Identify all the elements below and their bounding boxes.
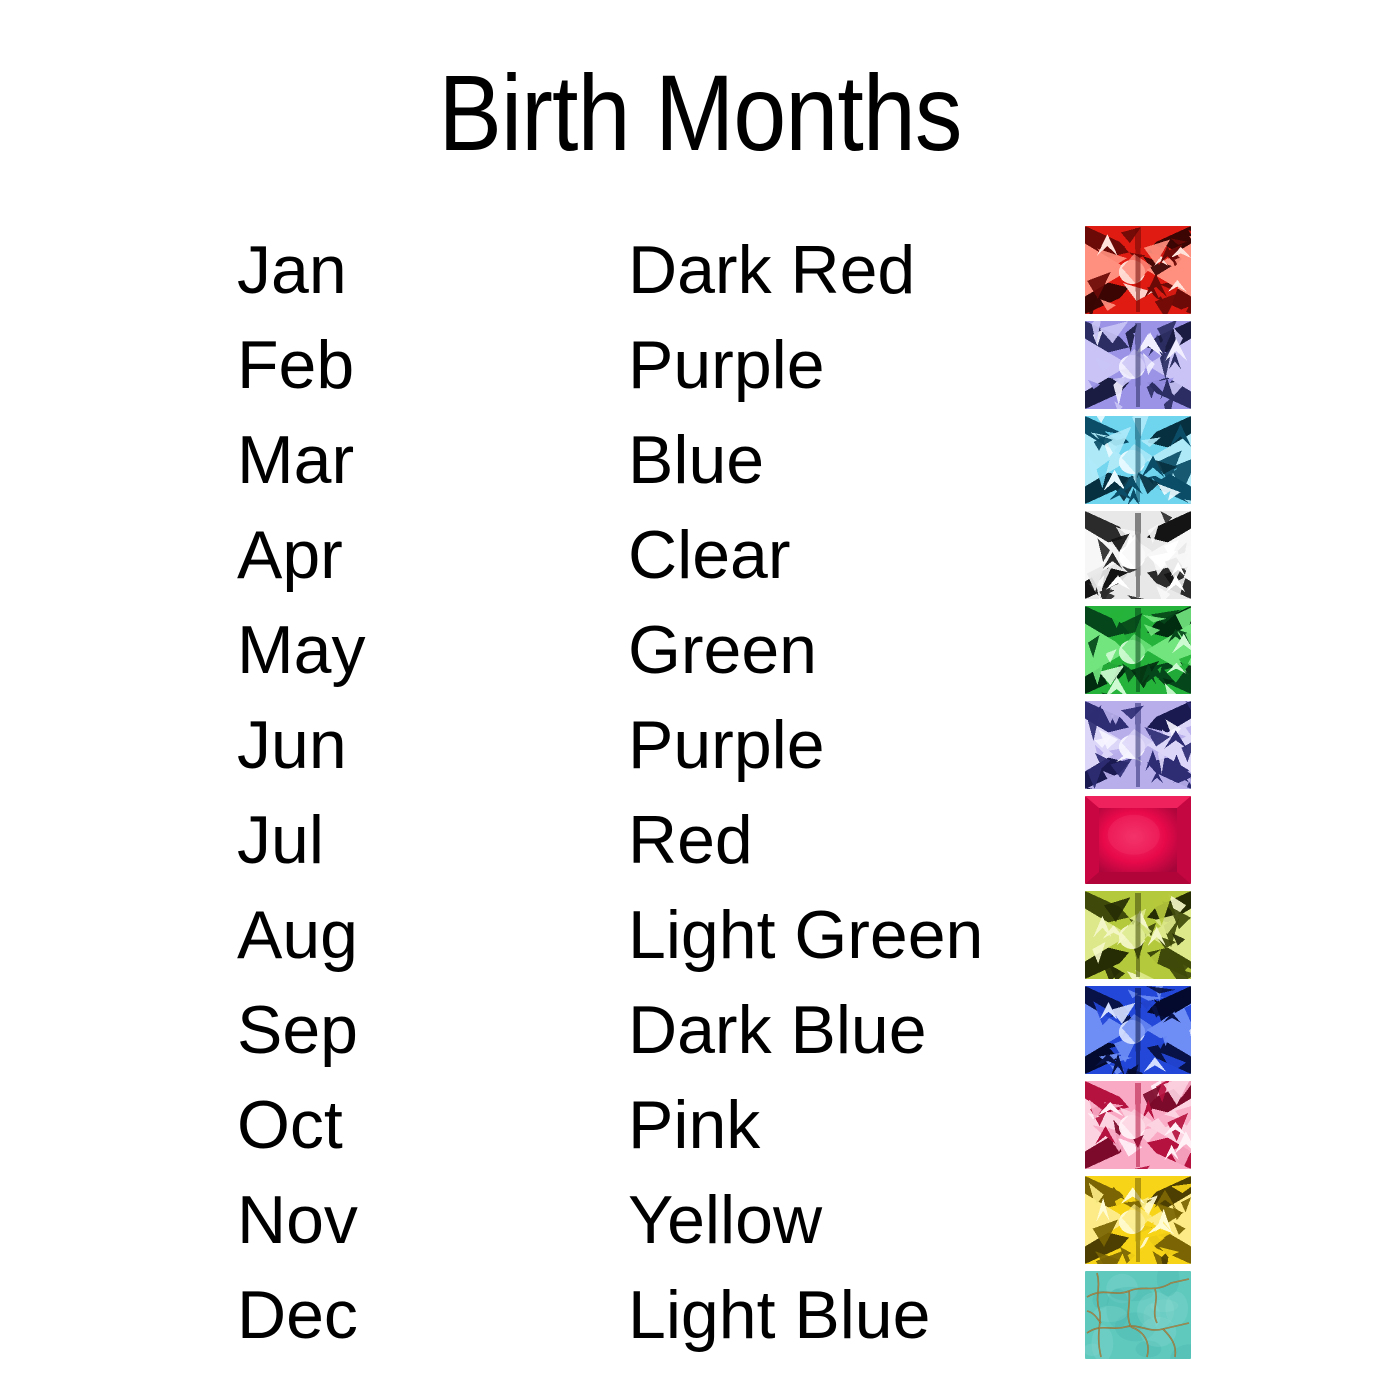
yellow-gem xyxy=(1085,1176,1191,1264)
month-label: Sep xyxy=(237,986,358,1081)
birth-months-page: Birth Months JanDark RedFebPurpleMarBlue… xyxy=(0,0,1400,1400)
gem-cell xyxy=(1085,1176,1191,1269)
color-label: Pink xyxy=(628,1081,760,1176)
clear-gem xyxy=(1085,511,1191,599)
month-label: Apr xyxy=(237,511,343,606)
light-purple-gem xyxy=(1085,701,1191,789)
color-label: Green xyxy=(628,606,817,701)
table-row: OctPink xyxy=(0,1081,1400,1176)
color-label: Red xyxy=(628,796,753,891)
gem-cell xyxy=(1085,1081,1191,1174)
month-label: Jun xyxy=(237,701,347,796)
table-row: JulRed xyxy=(0,796,1400,891)
green-gem xyxy=(1085,606,1191,694)
table-row: JanDark Red xyxy=(0,226,1400,321)
gem-cell xyxy=(1085,701,1191,794)
table-row: DecLight Blue xyxy=(0,1271,1400,1366)
table-row: MarBlue xyxy=(0,416,1400,511)
gem-cell xyxy=(1085,226,1191,319)
month-label: May xyxy=(237,606,365,701)
color-label: Blue xyxy=(628,416,764,511)
gem-cell xyxy=(1085,511,1191,604)
color-label: Light Green xyxy=(628,891,983,986)
gem-cell xyxy=(1085,891,1191,984)
color-label: Dark Red xyxy=(628,226,915,321)
month-label: Aug xyxy=(237,891,358,986)
month-label: Jan xyxy=(237,226,347,321)
red-gem xyxy=(1085,796,1191,884)
color-label: Yellow xyxy=(628,1176,822,1271)
dark-blue-gem xyxy=(1085,986,1191,1074)
table-row: SepDark Blue xyxy=(0,986,1400,1081)
gem-cell xyxy=(1085,986,1191,1079)
table-row: AprClear xyxy=(0,511,1400,606)
gem-cell xyxy=(1085,416,1191,509)
table-row: FebPurple xyxy=(0,321,1400,416)
birth-months-table: JanDark RedFebPurpleMarBlueAprClearMayGr… xyxy=(0,226,1400,1366)
color-label: Light Blue xyxy=(628,1271,930,1366)
table-row: MayGreen xyxy=(0,606,1400,701)
month-label: Jul xyxy=(237,796,324,891)
purple-gem xyxy=(1085,321,1191,409)
table-row: AugLight Green xyxy=(0,891,1400,986)
month-label: Feb xyxy=(237,321,354,416)
page-title: Birth Months xyxy=(84,58,1316,168)
dark-red-gem xyxy=(1085,226,1191,314)
turquoise-gem xyxy=(1085,1271,1191,1359)
gem-cell xyxy=(1085,606,1191,699)
color-label: Purple xyxy=(628,321,825,416)
gem-cell xyxy=(1085,321,1191,414)
table-row: JunPurple xyxy=(0,701,1400,796)
month-label: Mar xyxy=(237,416,354,511)
light-green-gem xyxy=(1085,891,1191,979)
table-row: NovYellow xyxy=(0,1176,1400,1271)
month-label: Oct xyxy=(237,1081,343,1176)
gem-cell xyxy=(1085,1271,1191,1364)
color-label: Dark Blue xyxy=(628,986,927,1081)
color-label: Purple xyxy=(628,701,825,796)
color-label: Clear xyxy=(628,511,791,606)
month-label: Dec xyxy=(237,1271,358,1366)
pink-gem xyxy=(1085,1081,1191,1169)
month-label: Nov xyxy=(237,1176,358,1271)
blue-gem xyxy=(1085,416,1191,504)
gem-cell xyxy=(1085,796,1191,889)
